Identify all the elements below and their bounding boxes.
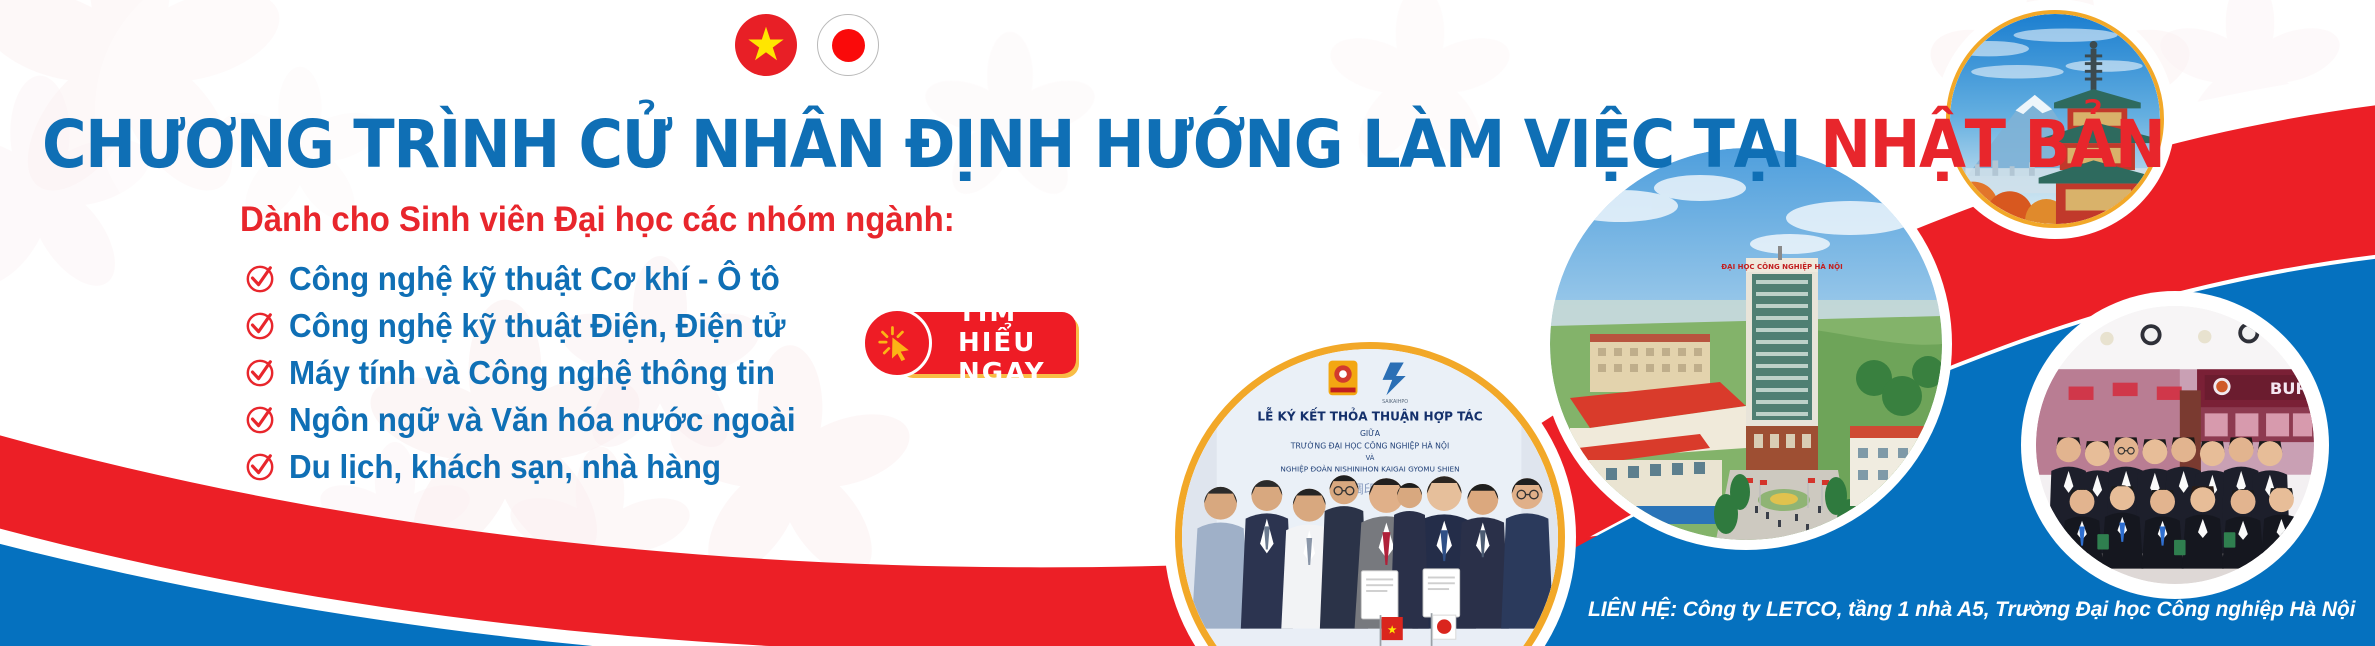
- list-item: Công nghệ kỹ thuật Cơ khí - Ô tô: [245, 255, 822, 302]
- photo-students: BURGER K: [2030, 300, 2320, 590]
- check-circle-icon: [245, 452, 275, 482]
- svg-text:★: ★: [1387, 624, 1397, 636]
- list-item: Công nghệ kỹ thuật Điện, Điện tử: [245, 302, 822, 349]
- vietnam-flag-icon: ★: [735, 14, 797, 76]
- svg-text:TRƯỜNG ĐẠI HỌC CÔNG NGHIỆP HÀ: TRƯỜNG ĐẠI HỌC CÔNG NGHIỆP HÀ NỘI: [1290, 441, 1450, 450]
- list-item-label: Du lịch, khách sạn, nhà hàng: [289, 448, 721, 486]
- svg-text:VÀ: VÀ: [1366, 453, 1375, 462]
- photo-campus: ĐẠI HỌC CÔNG NGHIỆP HÀ NỘI: [1550, 148, 1942, 540]
- svg-text:SAIKAIHPO: SAIKAIHPO: [1382, 399, 1408, 405]
- majors-list: Công nghệ kỹ thuật Cơ khí - Ô tô Công ng…: [245, 255, 822, 490]
- svg-text:ĐẠI HỌC CÔNG NGHIỆP HÀ NỘI: ĐẠI HỌC CÔNG NGHIỆP HÀ NỘI: [1721, 262, 1842, 271]
- page-title: CHƯƠNG TRÌNH CỬ NHÂN ĐỊNH HƯỚNG LÀM VIỆC…: [42, 112, 2164, 178]
- svg-text:GIỮA: GIỮA: [1360, 429, 1381, 438]
- list-item-label: Ngôn ngữ và Văn hóa nước ngoài: [289, 401, 796, 439]
- check-circle-icon: [245, 311, 275, 341]
- list-item-label: Công nghệ kỹ thuật Cơ khí - Ô tô: [289, 260, 780, 298]
- red-sun-disc-icon: [832, 29, 865, 62]
- svg-text:NGHIỆP ĐOÀN NISHINIHON KAIGAI: NGHIỆP ĐOÀN NISHINIHON KAIGAI GYOMU SHIE…: [1280, 464, 1459, 473]
- list-item: Du lịch, khách sạn, nhà hàng: [245, 443, 822, 490]
- subtitle: Dành cho Sinh viên Đại học các nhóm ngàn…: [240, 200, 955, 240]
- list-item-label: Công nghệ kỹ thuật Điện, Điện tử: [289, 307, 785, 345]
- flag-pair: ★: [735, 14, 879, 76]
- learn-more-label: TÌM HIỂU NGAY: [958, 298, 1046, 388]
- check-circle-icon: [245, 264, 275, 294]
- recruitment-banner: ★ CHƯƠNG TRÌNH CỬ NHÂN ĐỊNH HƯỚNG LÀM VI…: [0, 0, 2375, 646]
- contact-info: LIÊN HỆ: Công ty LETCO, tầng 1 nhà A5, T…: [1588, 598, 2355, 622]
- svg-text:LỄ KÝ KẾT THỎA THUẬN HỢP TÁC: LỄ KÝ KẾT THỎA THUẬN HỢP TÁC: [1257, 407, 1482, 423]
- yellow-star-icon: ★: [745, 21, 786, 67]
- list-item-label: Máy tính và Công nghệ thông tin: [289, 354, 775, 392]
- headline-accent: NHẬT BẢN: [1820, 106, 2164, 183]
- list-item: Máy tính và Công nghệ thông tin: [245, 349, 822, 396]
- list-item: Ngôn ngữ và Văn hóa nước ngoài: [245, 396, 822, 443]
- cursor-click-icon[interactable]: [862, 308, 932, 378]
- japan-flag-icon: [817, 14, 879, 76]
- check-circle-icon: [245, 358, 275, 388]
- headline-lead: CHƯƠNG TRÌNH CỬ NHÂN ĐỊNH HƯỚNG LÀM VIỆC…: [42, 106, 1820, 183]
- check-circle-icon: [245, 405, 275, 435]
